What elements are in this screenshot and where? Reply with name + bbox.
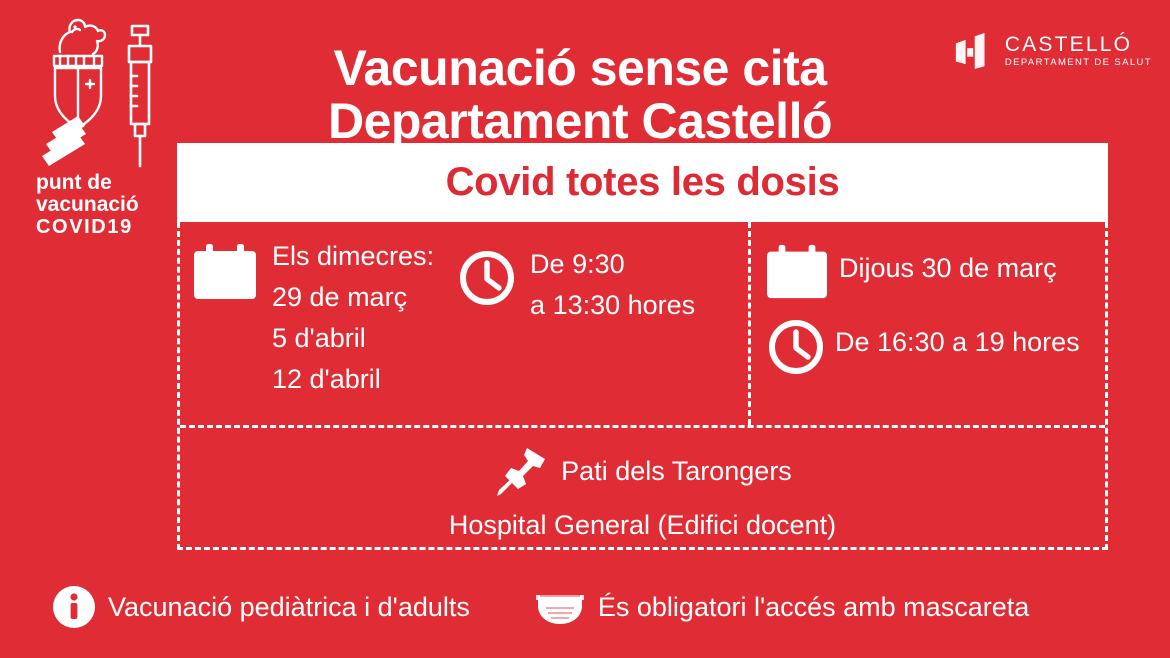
clock-icon: [767, 318, 825, 376]
mask-note-text: És obligatori l'accés amb mascareta: [598, 592, 1029, 623]
location-line-2: Hospital General (Edifici docent): [180, 505, 1105, 546]
castello-h-building-icon: [953, 30, 995, 72]
vaccination-point-label: punt de vacunació COVID19: [36, 172, 186, 238]
calendar-check-icon: [194, 241, 256, 303]
pushpin-icon: [493, 442, 551, 500]
castello-health-department-logo: CASTELLÓ DEPARTAMENT DE SALUT: [953, 30, 1152, 72]
schedule-right-column: Dijous 30 de març De 16:30 a 19 hores: [748, 222, 1105, 425]
hours-line-1: a 13:30 hores: [530, 285, 695, 326]
morning-hours-text: De 9:30 a 13:30 hores: [530, 244, 695, 326]
hours-line-0: De 9:30: [530, 244, 695, 285]
schedule-left-column: Els dimecres: 29 de març 5 d'abril 12 d'…: [180, 222, 748, 425]
dates-line-0: Els dimecres:: [272, 236, 434, 277]
generalitat-vaccination-logo: punt de vacunació COVID19: [30, 12, 175, 242]
title-line-2: Departament Castelló: [185, 95, 975, 148]
afternoon-hours-group: De 16:30 a 19 hores: [767, 316, 1105, 376]
logo-marks: [30, 12, 175, 172]
dates-line-1: 29 de març: [272, 277, 434, 318]
face-mask-icon: [534, 586, 586, 628]
vaccination-poster: punt de vacunació COVID19 Vacunació sens…: [0, 0, 1170, 658]
dept-logo-brand: CASTELLÓ: [1005, 33, 1152, 56]
generalitat-valenciana-crest-icon: [38, 12, 118, 172]
syringe-icon: [118, 20, 162, 170]
logo-line-2: vacunació: [36, 194, 186, 216]
pediatric-note: Vacunació pediàtrica i d'adults: [52, 585, 470, 629]
banner: Covid totes les dosis: [177, 143, 1108, 222]
location-line-1-group: Pati dels Tarongers: [493, 442, 792, 500]
logo-line-3: COVID19: [36, 217, 186, 238]
afternoon-hours-text: De 16:30 a 19 hores: [835, 316, 1080, 363]
location-line-1: Pati dels Tarongers: [561, 451, 792, 492]
location-row: Pati dels Tarongers Hospital General (Ed…: [180, 425, 1105, 547]
dates-line-3: 12 d'abril: [272, 359, 434, 400]
thursday-date-group: Dijous 30 de març: [767, 240, 1105, 302]
info-circle-icon: [52, 585, 96, 629]
calendar-check-icon: [767, 242, 827, 302]
title-line-1: Vacunació sense cita: [185, 42, 975, 95]
thursday-date-text: Dijous 30 de març: [839, 240, 1057, 289]
mask-note: És obligatori l'accés amb mascareta: [534, 586, 1029, 628]
morning-hours-group: De 9:30 a 13:30 hores: [458, 236, 695, 425]
dates-line-2: 5 d'abril: [272, 318, 434, 359]
schedule-row: Els dimecres: 29 de març 5 d'abril 12 d'…: [180, 222, 1105, 425]
pediatric-note-text: Vacunació pediàtrica i d'adults: [108, 592, 470, 623]
banner-title: Covid totes les dosis: [446, 160, 840, 205]
weekday-dates-group: Els dimecres: 29 de març 5 d'abril 12 d'…: [186, 236, 434, 425]
page-title: Vacunació sense cita Departament Castell…: [185, 42, 975, 148]
info-box: Els dimecres: 29 de març 5 d'abril 12 d'…: [177, 222, 1108, 550]
weekday-dates-text: Els dimecres: 29 de març 5 d'abril 12 d'…: [272, 236, 434, 400]
footer: Vacunació pediàtrica i d'adults És oblig…: [0, 572, 1170, 642]
dept-logo-words: CASTELLÓ DEPARTAMENT DE SALUT: [1005, 33, 1152, 69]
logo-line-1: punt de: [36, 172, 186, 194]
dept-logo-subtitle: DEPARTAMENT DE SALUT: [1005, 58, 1152, 68]
clock-icon: [458, 249, 516, 307]
